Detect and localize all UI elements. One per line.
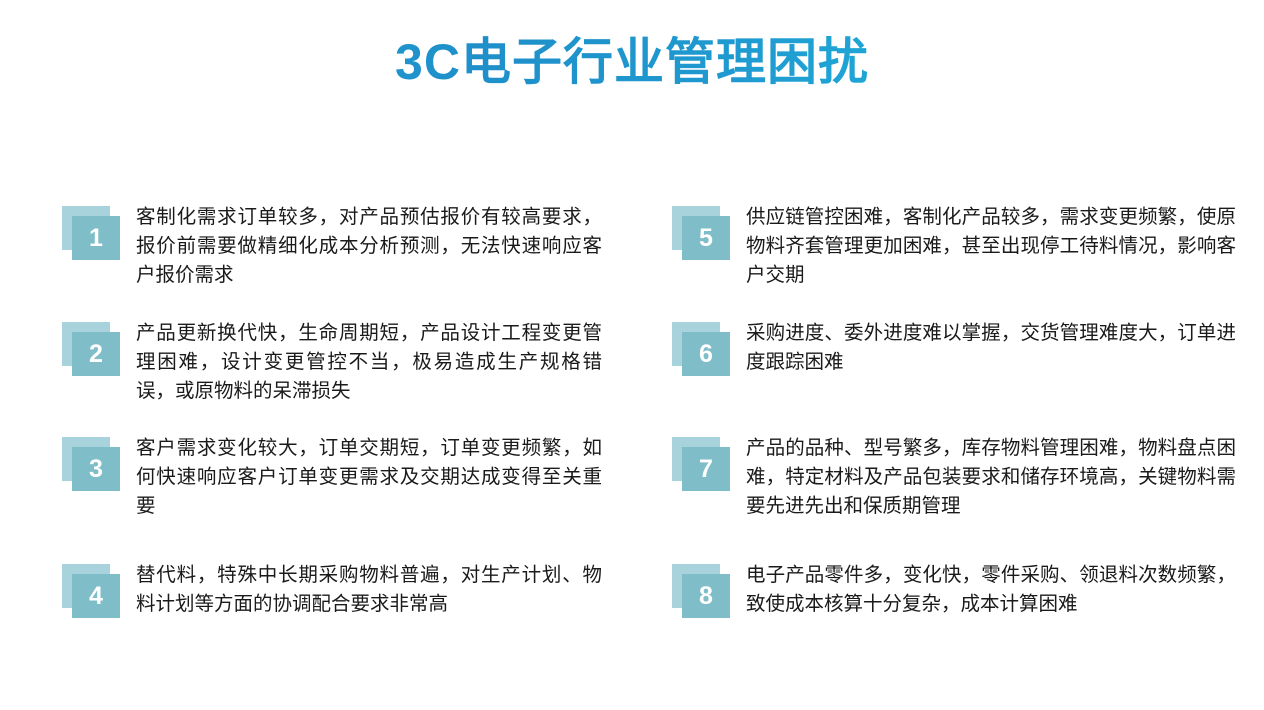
badge-number: 3 xyxy=(89,457,103,482)
item-number-badge: 7 xyxy=(672,437,730,491)
badge-number: 5 xyxy=(699,226,713,251)
badge-number: 4 xyxy=(89,584,103,609)
slide-root: 3C电子行业管理困扰 1 客制化需求订单较多，对产品预估报价有较高要求，报价前需… xyxy=(0,0,1264,710)
list-item: 6 采购进度、委外进度难以掌握，交货管理难度大，订单进度跟踪困难 xyxy=(672,318,1236,376)
right-column: 5 供应链管控困难，客制化产品较多，需求变更频繁，使原物料齐套管理更加困难，甚至… xyxy=(632,190,1264,670)
list-item: 5 供应链管控困难，客制化产品较多，需求变更频繁，使原物料齐套管理更加困难，甚至… xyxy=(672,202,1236,289)
item-text: 客制化需求订单较多，对产品预估报价有较高要求，报价前需要做精细化成本分析预测，无… xyxy=(136,202,602,289)
item-number-badge: 6 xyxy=(672,322,730,376)
item-number-badge: 4 xyxy=(62,564,120,618)
list-item: 8 电子产品零件多，变化快，零件采购、领退料次数频繁，致使成本核算十分复杂，成本… xyxy=(672,560,1236,618)
list-item: 2 产品更新换代快，生命周期短，产品设计工程变更管理困难，设计变更管控不当，极易… xyxy=(62,318,602,405)
badge-front-square: 7 xyxy=(682,447,730,491)
item-text: 产品更新换代快，生命周期短，产品设计工程变更管理困难，设计变更管控不当，极易造成… xyxy=(136,318,602,405)
item-number-badge: 5 xyxy=(672,206,730,260)
item-text: 客户需求变化较大，订单交期短，订单变更频繁，如何快速响应客户订单变更需求及交期达… xyxy=(136,433,602,520)
badge-front-square: 2 xyxy=(72,332,120,376)
badge-front-square: 3 xyxy=(72,447,120,491)
badge-front-square: 6 xyxy=(682,332,730,376)
item-text: 供应链管控困难，客制化产品较多，需求变更频繁，使原物料齐套管理更加困难，甚至出现… xyxy=(746,202,1236,289)
list-item: 7 产品的品种、型号繁多，库存物料管理困难，物料盘点困难，特定材料及产品包装要求… xyxy=(672,433,1236,520)
item-text: 采购进度、委外进度难以掌握，交货管理难度大，订单进度跟踪困难 xyxy=(746,318,1236,376)
badge-front-square: 4 xyxy=(72,574,120,618)
page-title: 3C电子行业管理困扰 xyxy=(0,32,1264,92)
badge-number: 8 xyxy=(699,584,713,609)
item-number-badge: 1 xyxy=(62,206,120,260)
left-column: 1 客制化需求订单较多，对产品预估报价有较高要求，报价前需要做精细化成本分析预测… xyxy=(0,190,632,670)
item-text: 电子产品零件多，变化快，零件采购、领退料次数频繁，致使成本核算十分复杂，成本计算… xyxy=(746,560,1236,618)
item-text: 产品的品种、型号繁多，库存物料管理困难，物料盘点困难，特定材料及产品包装要求和储… xyxy=(746,433,1236,520)
item-number-badge: 2 xyxy=(62,322,120,376)
list-item: 1 客制化需求订单较多，对产品预估报价有较高要求，报价前需要做精细化成本分析预测… xyxy=(62,202,602,289)
badge-number: 2 xyxy=(89,342,103,367)
badge-number: 1 xyxy=(89,226,103,251)
item-number-badge: 3 xyxy=(62,437,120,491)
content-columns: 1 客制化需求订单较多，对产品预估报价有较高要求，报价前需要做精细化成本分析预测… xyxy=(0,190,1264,670)
badge-number: 6 xyxy=(699,342,713,367)
badge-front-square: 1 xyxy=(72,216,120,260)
list-item: 3 客户需求变化较大，订单交期短，订单变更频繁，如何快速响应客户订单变更需求及交… xyxy=(62,433,602,520)
list-item: 4 替代料，特殊中长期采购物料普遍，对生产计划、物料计划等方面的协调配合要求非常… xyxy=(62,560,602,618)
item-text: 替代料，特殊中长期采购物料普遍，对生产计划、物料计划等方面的协调配合要求非常高 xyxy=(136,560,602,618)
badge-front-square: 8 xyxy=(682,574,730,618)
badge-number: 7 xyxy=(699,457,713,482)
item-number-badge: 8 xyxy=(672,564,730,618)
badge-front-square: 5 xyxy=(682,216,730,260)
